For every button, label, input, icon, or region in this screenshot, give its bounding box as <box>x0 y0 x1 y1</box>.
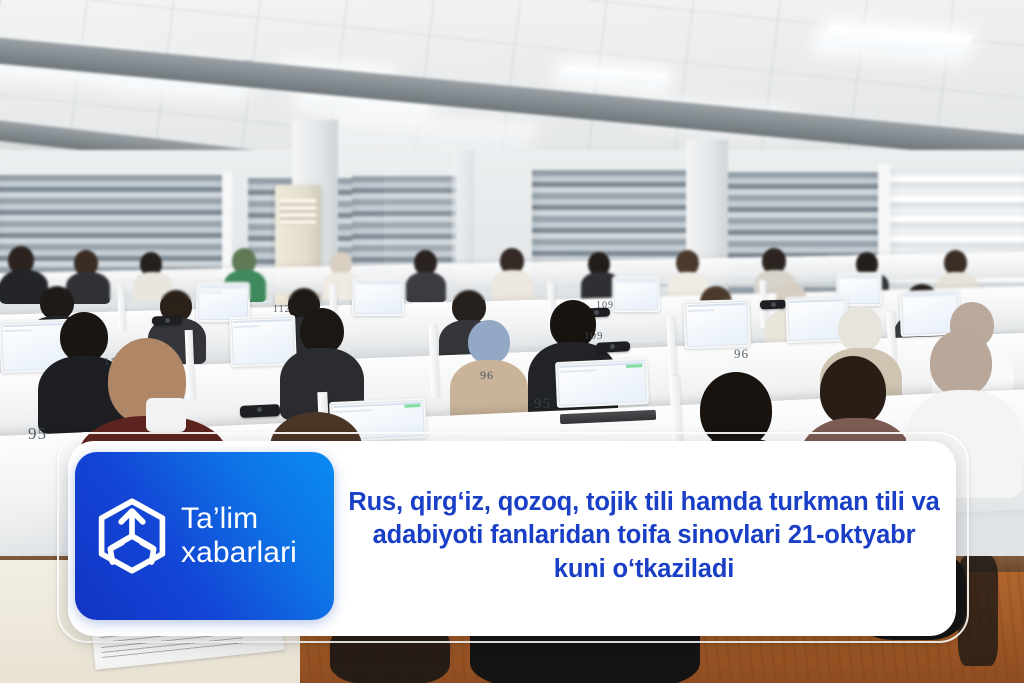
booth-number: 96 <box>480 368 494 383</box>
brand-name: Ta’lim xabarlari <box>181 502 297 570</box>
webcam-icon <box>760 300 786 310</box>
brand-badge[interactable]: Ta’lim xabarlari <box>75 452 334 620</box>
headline-text: Rus, qirg‘iz, qozoq, tojik tili hamda tu… <box>340 452 948 620</box>
booth-number: 96 <box>734 346 749 362</box>
booth-number: 109 <box>596 300 614 311</box>
monitor <box>352 278 404 316</box>
cube-arrows-logo-icon <box>97 498 167 574</box>
monitor <box>612 276 660 312</box>
booth-divider <box>117 286 125 332</box>
webcam-icon <box>596 341 630 353</box>
booth-number: 109 <box>584 330 604 342</box>
monitor <box>683 299 751 349</box>
webcam-icon <box>240 404 281 418</box>
webcam-icon <box>152 315 182 325</box>
screenshot-stage: 112 92 <box>0 0 1024 683</box>
wall-column <box>452 150 474 280</box>
booth-number: 95 <box>534 396 551 413</box>
booth-number: 95 <box>28 424 47 444</box>
monitor <box>555 358 649 408</box>
